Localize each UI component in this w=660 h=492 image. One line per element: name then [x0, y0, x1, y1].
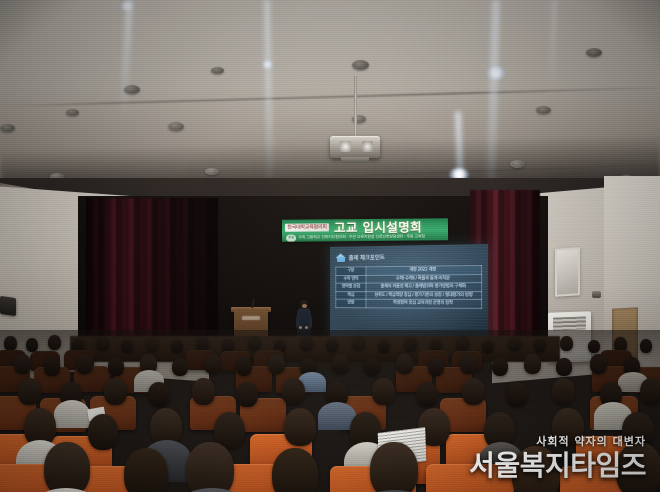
ceiling-lamp-lit: [262, 60, 273, 69]
audience-head: [404, 337, 417, 352]
table-cell-value: 성취도 / 핵심역량 중심 / 평가기준의 설정 / 절대평가의 방향: [366, 291, 482, 300]
wall-sconce-right: [592, 291, 601, 298]
ac-vent-right: [553, 316, 586, 330]
projector-foot: [341, 157, 369, 163]
audience-head: [326, 339, 338, 352]
downlight-can: [66, 109, 79, 116]
slide-header: 출제 체크포인트: [335, 252, 384, 263]
audience-head: [44, 442, 90, 492]
audience-head: [76, 354, 93, 374]
audience-head: [552, 378, 575, 405]
audience-head: [192, 378, 215, 405]
table-cell-label: 영역별 관점: [336, 283, 366, 291]
podium-nameplate: [242, 316, 260, 320]
audience-head: [428, 358, 444, 376]
auditorium-photo: 한국대학교육협의회 고교 입시설명회 주최주최 고등학교 진학지도협의회 · 주…: [0, 0, 660, 492]
ceiling-lamp-lit: [487, 66, 505, 80]
audience-head: [268, 354, 285, 374]
table-row: 방향 학생참여 중심 교육과정 운영의 정착: [336, 300, 482, 309]
audience-head: [416, 382, 438, 407]
table-row: 핵심 성취도 / 핵심역량 중심 / 평가기준의 설정 / 절대평가의 방향: [336, 291, 482, 300]
audience-head: [524, 354, 541, 374]
table-cell-label: 수학 영역: [336, 275, 366, 283]
audience-head: [26, 338, 38, 352]
projector-lens-icon: [340, 141, 351, 152]
audience-head: [370, 442, 418, 492]
audience-head: [248, 336, 261, 351]
audience-head: [4, 336, 17, 351]
audience-head: [506, 382, 528, 407]
audience-head: [372, 378, 395, 405]
presenter-hand: [299, 326, 302, 329]
audience-head: [640, 339, 652, 353]
audience-shoulders: [54, 400, 90, 428]
audience-head: [300, 337, 313, 351]
audience-head: [482, 340, 494, 353]
audience-head: [616, 442, 660, 492]
slide-table: 구분 개정 2022 개정 수학 영역 수학I·수학II / 확률과 통계·미적…: [335, 265, 482, 309]
audience-head: [104, 378, 127, 405]
audience-head: [460, 354, 477, 374]
audience-head: [560, 336, 573, 351]
audience-head: [124, 448, 168, 492]
audience-head: [172, 358, 188, 376]
audience-head: [48, 335, 61, 350]
audience-head: [96, 336, 109, 351]
table-cell-value: 출제의 자율성 제고 / 출제범위와 평가방법의 구체화: [366, 283, 482, 292]
downlight-can: [536, 106, 551, 114]
table-cell-label: 방향: [336, 300, 366, 308]
audience-head: [284, 408, 316, 446]
table-cell-label: 핵심: [336, 291, 366, 299]
audience-head: [204, 354, 221, 374]
audience-head: [171, 340, 183, 353]
downlight-can: [510, 160, 525, 168]
audience-head: [121, 340, 133, 353]
audience-head: [18, 378, 41, 405]
audience-head: [590, 354, 607, 374]
audience-head: [186, 442, 234, 492]
audience-head: [88, 414, 118, 450]
auditorium-seat: [426, 464, 514, 492]
projection-screen: 출제 체크포인트 구분 개정 2022 개정 수학 영역 수학I·수학II / …: [330, 244, 488, 344]
downlight-can: [352, 60, 369, 70]
audience-head: [332, 354, 349, 374]
audience-head: [364, 357, 380, 376]
table-cell-value: 학생참여 중심 교육과정 운영의 정착: [366, 300, 482, 309]
banner-chip-host: 주최: [286, 235, 296, 242]
audience-head: [146, 337, 159, 352]
audience-head: [492, 357, 508, 376]
projector-lens-icon: [362, 141, 373, 152]
audience-head: [282, 378, 305, 405]
ceiling-seam: [0, 87, 660, 107]
stage-curtain-left: [86, 198, 218, 350]
audience-head: [108, 357, 124, 376]
banner-organizer-text: 한국대학교육협의회: [286, 223, 328, 231]
audience-head: [236, 357, 252, 376]
audience-head: [462, 378, 485, 405]
downlight-can: [124, 85, 140, 94]
audience-head: [236, 382, 258, 407]
downlight-can: [211, 67, 224, 74]
audience-area: [0, 330, 660, 492]
banner-footer: 주최주최 고등학교 진학지도협의회 · 주관 교육지원청 진로진학상담센터 · …: [286, 232, 444, 240]
home-icon: [335, 253, 346, 263]
audience-head: [512, 446, 560, 492]
audience-head: [552, 408, 584, 446]
presenter-arm-right: [309, 316, 313, 328]
audience-head: [534, 339, 546, 352]
audience-head: [148, 382, 170, 407]
audience-head: [508, 337, 521, 351]
audience-head: [272, 448, 318, 492]
wall-window-right: [555, 247, 580, 297]
downlight-can: [168, 122, 184, 131]
downlight-can: [586, 48, 602, 57]
audience-head: [378, 340, 390, 353]
audience-head: [44, 357, 60, 376]
ceiling-lamp-lit: [120, 1, 134, 11]
banner-footer-text: 주최 고등학교 진학지도협의회 · 주관 교육지원청 진로진학상담센터 · 후원…: [298, 233, 425, 239]
audience-head: [588, 340, 600, 353]
table-cell-label: 구분: [336, 267, 366, 275]
audience-head: [556, 358, 572, 376]
audience-head: [456, 336, 469, 351]
audience-head: [352, 336, 365, 351]
audience-head: [396, 354, 413, 374]
event-banner: 한국대학교육협의회 고교 입시설명회 주최주최 고등학교 진학지도협의회 · 주…: [282, 218, 448, 241]
downlight-can: [205, 168, 219, 175]
presenter-hand: [305, 326, 308, 329]
slide-title: 출제 체크포인트: [349, 253, 385, 262]
audience-head: [196, 336, 209, 351]
audience-head: [14, 354, 31, 374]
wall-speaker-left: [0, 296, 16, 316]
audience-head: [640, 378, 660, 405]
table-row: 영역별 관점 출제의 자율성 제고 / 출제범위와 평가방법의 구체화: [336, 283, 482, 292]
downlight-can: [0, 124, 15, 132]
presenter-face: [302, 304, 307, 309]
projector-mount-pole: [354, 76, 357, 138]
